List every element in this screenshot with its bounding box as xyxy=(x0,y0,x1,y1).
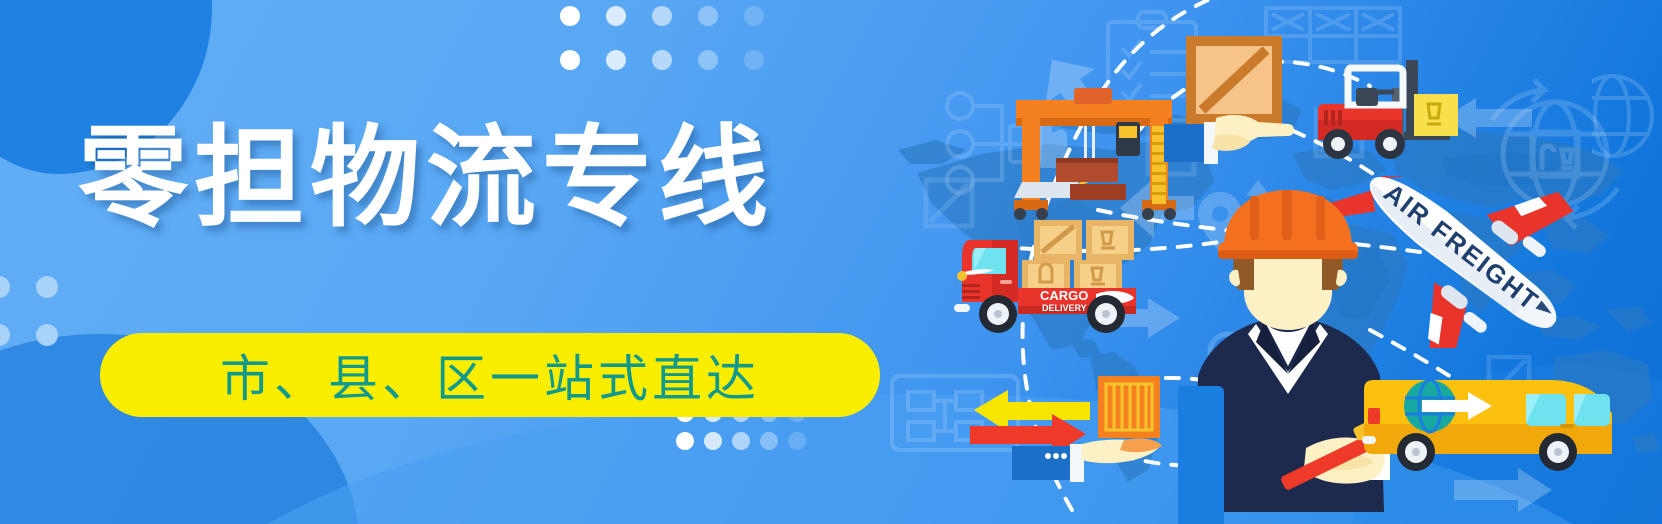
dot-grid-top xyxy=(560,6,790,64)
page-title: 零担物流专线 xyxy=(78,118,774,241)
truck-label-delivery: DELIVERY xyxy=(1042,303,1087,313)
dot-grid-left xyxy=(0,276,78,396)
pointing-hand-icon xyxy=(1164,98,1294,176)
truck-label-cargo: CARGO xyxy=(1040,288,1088,303)
subtitle-text: 市、县、区一站式直达 xyxy=(220,339,760,411)
forklift xyxy=(1296,58,1458,168)
truck-crates xyxy=(1022,220,1134,294)
hand-holding-crate xyxy=(964,364,1194,494)
blue-clipboard xyxy=(1178,372,1224,524)
cargo-truck: CARGO DELIVERY xyxy=(936,218,1156,338)
subtitle-pill: 市、县、区一站式直达 xyxy=(100,333,880,417)
left-arrow-icon xyxy=(974,390,1090,432)
cargo-container xyxy=(1008,152,1138,206)
delivery-van xyxy=(1360,356,1620,476)
logistics-banner: AIR FREIGHT CARGO xyxy=(0,0,1662,524)
